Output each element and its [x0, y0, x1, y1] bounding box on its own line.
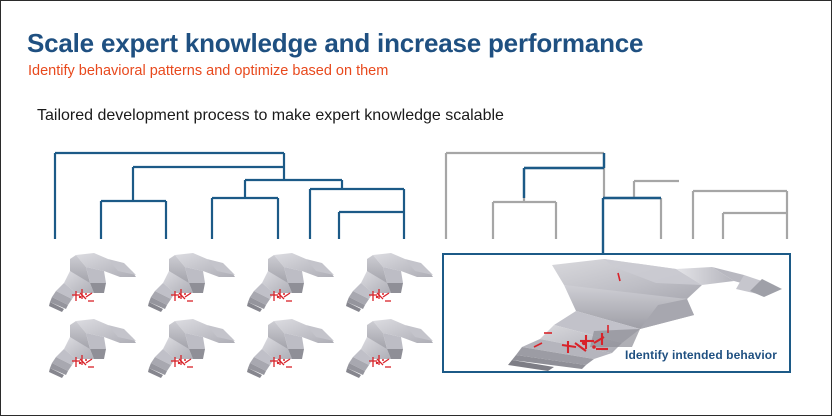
intended-behavior-panel[interactable]: Identify intended behavior: [442, 253, 791, 373]
behavior-sample-thumbnail[interactable]: [343, 253, 437, 315]
behavior-sample-thumbnail[interactable]: [145, 319, 239, 381]
right-dendrogram: [1, 1, 832, 261]
behavior-sample-thumbnail[interactable]: [244, 319, 338, 381]
behavior-sample-thumbnail[interactable]: [145, 253, 239, 315]
behavior-sample-grid: [46, 253, 436, 383]
intended-behavior-label: Identify intended behavior: [625, 348, 777, 362]
slide-root: Scale expert knowledge and increase perf…: [0, 0, 832, 416]
behavior-sample-thumbnail[interactable]: [46, 319, 140, 381]
behavior-sample-thumbnail[interactable]: [343, 319, 437, 381]
behavior-sample-thumbnail[interactable]: [244, 253, 338, 315]
behavior-sample-thumbnail[interactable]: [46, 253, 140, 315]
